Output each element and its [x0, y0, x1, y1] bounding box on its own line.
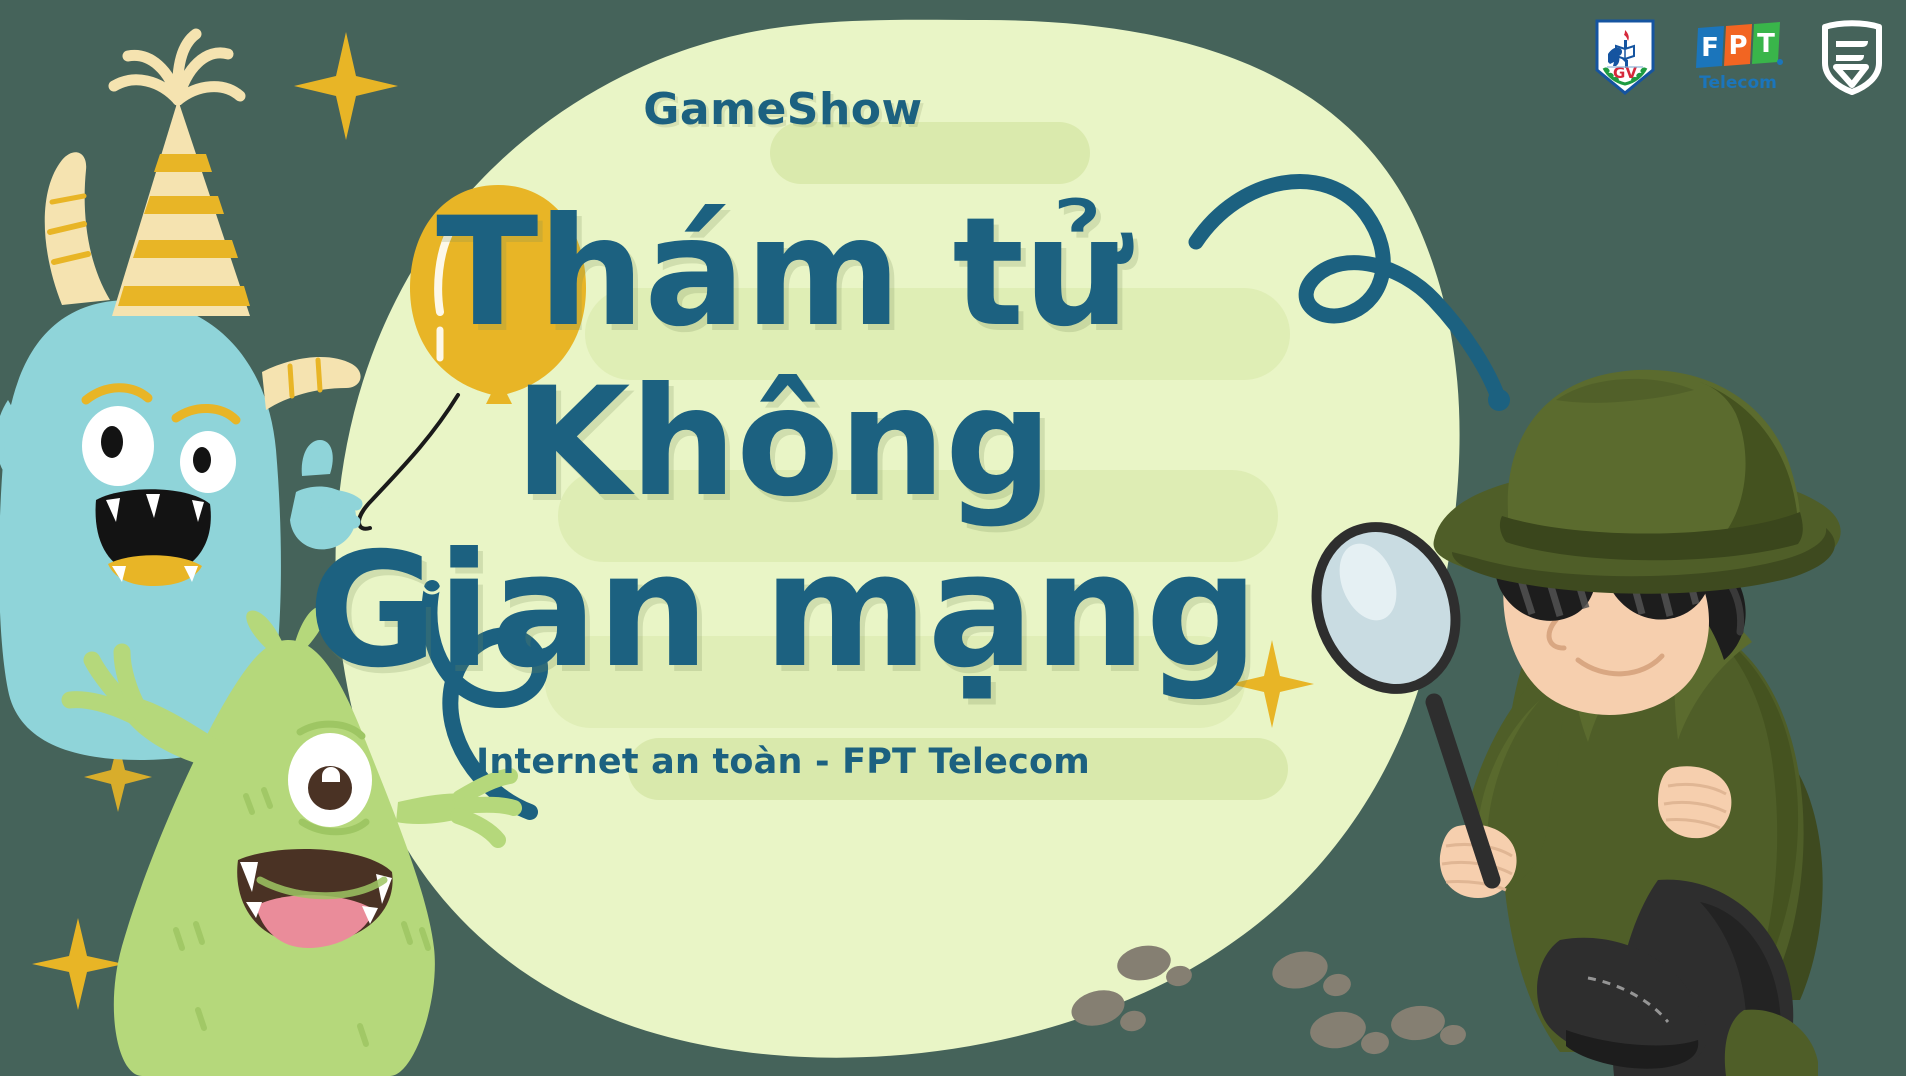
- logo-bar: GV F P T Telecom: [1594, 18, 1884, 96]
- detective-hat: [1434, 370, 1841, 594]
- svg-text:T: T: [1757, 29, 1775, 59]
- poster-canvas: GameShow Thám tử Không Gian mạng Interne…: [0, 0, 1906, 1076]
- footprints: [1068, 942, 1467, 1056]
- fpt-telecom-logo: F P T Telecom: [1692, 18, 1784, 96]
- school-crest-logo: GV: [1594, 18, 1656, 96]
- svg-text:P: P: [1728, 31, 1747, 61]
- shield-logo: [1820, 19, 1884, 95]
- svg-text:F: F: [1701, 33, 1719, 63]
- svg-text:Telecom: Telecom: [1699, 73, 1777, 93]
- detective: [0, 0, 1906, 1076]
